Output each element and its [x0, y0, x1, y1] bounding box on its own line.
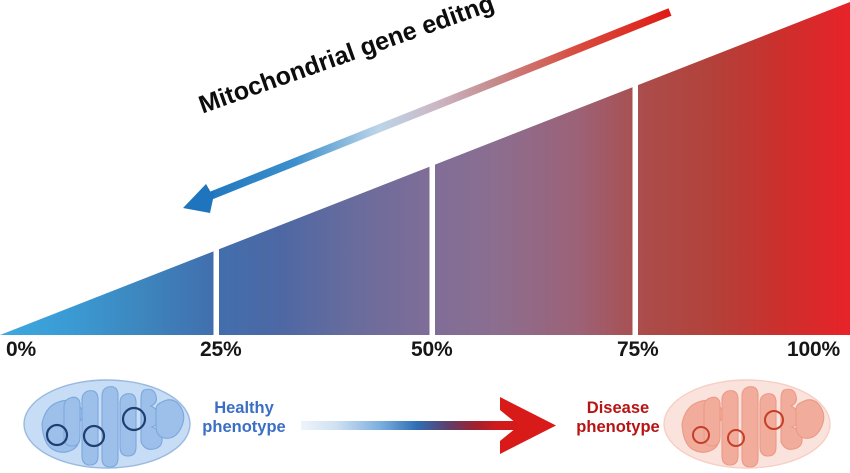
- disease-phenotype-line1: Disease: [564, 399, 672, 418]
- axis-tick-25: 25%: [200, 338, 241, 362]
- healthy-mitochondrion: [22, 378, 192, 470]
- healthy-to-disease-arrow: [301, 397, 556, 454]
- healthy-phenotype-label: Healthy phenotype: [196, 399, 292, 437]
- wedge-body: [0, 2, 850, 335]
- disease-mitochondrion: [662, 378, 832, 470]
- disease-phenotype-line2: phenotype: [564, 418, 672, 437]
- heteroplasmy-figure: Mitochondrial gene editng 0% 25% 50% 75%…: [0, 0, 850, 473]
- axis-tick-100: 100%: [787, 338, 840, 362]
- axis-tick-50: 50%: [411, 338, 452, 362]
- disease-phenotype-label: Disease phenotype: [564, 399, 672, 437]
- axis-tick-0: 0%: [6, 338, 36, 362]
- axis-tick-75: 75%: [617, 338, 658, 362]
- healthy-phenotype-line1: Healthy: [196, 399, 292, 418]
- healthy-phenotype-line2: phenotype: [196, 418, 292, 437]
